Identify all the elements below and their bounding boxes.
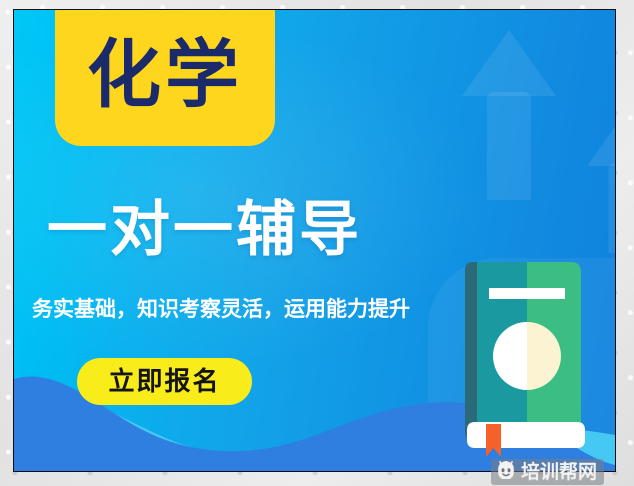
enroll-now-button[interactable]: 立即报名: [77, 358, 252, 405]
up-arrow-icon: [462, 30, 556, 200]
arrow-shaft: [609, 163, 617, 253]
subject-badge: 化学: [55, 10, 275, 146]
book-bookmark: [486, 424, 501, 456]
book-illustration: [461, 256, 593, 456]
subject-badge-label: 化学: [87, 38, 243, 118]
watermark-text: 培训帮网: [521, 463, 597, 482]
up-arrow-secondary-icon: [587, 110, 616, 250]
book-band: [489, 288, 565, 299]
watermark: 培训帮网: [491, 459, 604, 485]
subtitle-text: 务实基础，知识考察灵活，运用能力提升: [32, 299, 410, 320]
arrow-head: [462, 30, 556, 96]
promo-banner: 化学 一对一辅导 务实基础，知识考察灵活，运用能力提升 立即报名: [13, 9, 616, 472]
sun-face-icon: [496, 461, 516, 483]
page-title: 一对一辅导: [47, 200, 362, 260]
arrow-shaft: [487, 92, 531, 200]
enroll-now-button-label: 立即报名: [108, 369, 220, 395]
arrow-head: [587, 110, 616, 166]
book-pages: [467, 422, 585, 448]
page-backdrop: 化学 一对一辅导 务实基础，知识考察灵活，运用能力提升 立即报名: [0, 0, 634, 486]
